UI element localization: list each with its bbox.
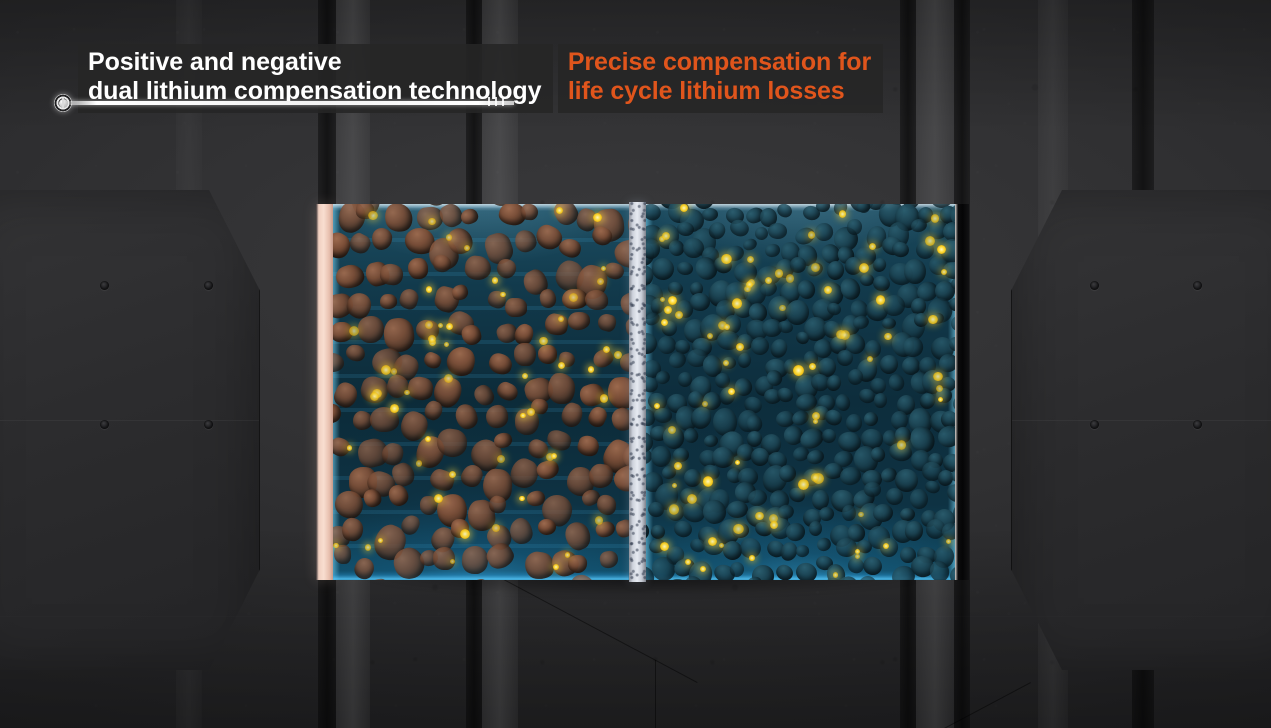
lithium-ion-glow — [569, 293, 578, 302]
lithium-ion-glow — [438, 323, 443, 328]
electrode-particle — [584, 289, 608, 310]
lithium-ion-glow — [931, 214, 940, 223]
negative-electrode — [646, 204, 955, 580]
lithium-ion-glow — [614, 351, 622, 359]
electrode-particle — [408, 258, 428, 279]
wall-rivet — [1193, 420, 1202, 429]
lithium-ion-glow — [460, 529, 470, 539]
lithium-ion-glow — [654, 403, 660, 409]
wall-rivet — [204, 420, 213, 429]
aluminium-current-collector — [316, 204, 333, 580]
lithium-ion-glow — [674, 462, 682, 470]
lithium-ion-glow — [839, 210, 846, 217]
caption-subtitle-line2: life cycle lithium losses — [568, 77, 871, 106]
wall-plate-seam-left — [0, 420, 259, 421]
lithium-ion-glow — [707, 333, 714, 340]
lithium-ion-glow — [603, 346, 610, 353]
electrode-particle — [845, 414, 862, 432]
electrode-particle — [873, 392, 887, 408]
lithium-ion-glow — [446, 234, 453, 241]
play-pause-knob-icon[interactable] — [54, 94, 72, 112]
lithium-ion-glow — [786, 274, 795, 283]
lithium-ion-glow — [936, 385, 943, 392]
electrode-particle — [513, 343, 535, 366]
lithium-ion-glow — [732, 298, 743, 309]
lithium-ion-glow — [497, 455, 505, 463]
lithium-ion-glow — [685, 559, 691, 565]
lithium-ion-glow — [735, 460, 740, 465]
lithium-ion-glow — [347, 445, 352, 450]
lithium-ion-glow — [733, 524, 744, 535]
timeline-tick — [502, 97, 504, 106]
lithium-ion-glow — [884, 333, 892, 341]
caption-subtitle-box: Precise compensation for life cycle lith… — [558, 44, 883, 113]
floor-seam-highlight — [0, 616, 1271, 617]
lithium-ion-glow — [811, 473, 819, 481]
electrode-particle — [863, 481, 881, 497]
lithium-ion-glow — [378, 538, 383, 543]
lithium-ion-glow — [500, 292, 506, 298]
lithium-ion-glow — [700, 566, 706, 572]
lithium-ion-glow — [824, 286, 832, 294]
positive-electrode — [333, 204, 629, 580]
lithium-ion-glow — [808, 231, 816, 239]
caption-title-line1: Positive and negative — [88, 48, 541, 77]
lithium-ion-glow — [349, 326, 359, 336]
lithium-ion-glow — [809, 363, 816, 370]
lithium-ion-glow — [798, 479, 809, 490]
lithium-ion-glow — [416, 460, 422, 466]
lithium-ion-glow — [883, 543, 889, 549]
lithium-ion-glow — [736, 343, 744, 351]
lithium-ion-glow — [492, 524, 499, 531]
lithium-ion-glow — [391, 368, 397, 374]
lithium-ion-glow — [668, 296, 677, 305]
lithium-ion-glow — [744, 286, 750, 292]
lithium-ion-glow — [446, 323, 453, 330]
timeline-track[interactable] — [70, 101, 514, 105]
electrode-particle — [547, 373, 575, 405]
timeline-tick — [495, 97, 497, 106]
copper-current-collector — [955, 204, 969, 580]
lithium-ion-glow — [897, 440, 907, 450]
lithium-ion-glow — [928, 315, 937, 324]
electrode-particle — [904, 259, 926, 285]
wall-plate-seam-right — [1012, 420, 1271, 421]
electrode-particle — [654, 407, 673, 423]
lithium-ion-glow — [492, 277, 498, 283]
lithium-ion-glow — [519, 496, 525, 502]
lithium-ion-glow — [933, 372, 943, 382]
lithium-ion-glow — [551, 453, 557, 459]
scene: Positive and negative dual lithium compe… — [0, 0, 1271, 728]
electrode-particle — [809, 521, 822, 536]
lithium-ion-glow — [703, 476, 713, 486]
lithium-ion-glow — [444, 342, 449, 347]
electrode-particle — [683, 469, 701, 487]
wall-rivet — [100, 281, 109, 290]
lithium-ion-glow — [672, 483, 677, 488]
wall-rivet — [1193, 281, 1202, 290]
electrode-particle — [842, 505, 856, 521]
lithium-ion-glow — [925, 236, 935, 246]
timeline-divider[interactable] — [54, 94, 514, 112]
lithium-ion-glow — [390, 404, 399, 413]
lithium-ion-glow — [811, 263, 820, 272]
wall-rivet — [204, 281, 213, 290]
lithium-ion-glow — [867, 356, 873, 362]
lithium-ion-glow — [434, 494, 443, 503]
wall-plate-right — [1011, 190, 1271, 670]
lithium-ion-glow — [755, 512, 764, 521]
wall-rivet — [1090, 281, 1099, 290]
lithium-ion-glow — [669, 504, 679, 514]
lithium-ion-glow — [662, 232, 670, 240]
timeline-tick — [488, 97, 490, 106]
caption-subtitle-line1: Precise compensation for — [568, 48, 871, 77]
lithium-ion-glow — [702, 401, 708, 407]
floor-seam-vertical — [655, 660, 656, 728]
lithium-ion-glow — [381, 365, 391, 375]
wall-plate-left — [0, 190, 260, 670]
lithium-ion-glow — [527, 408, 535, 416]
lithium-ion-glow — [333, 543, 339, 549]
electrode-particle — [538, 519, 556, 535]
lithium-ion-glow — [558, 316, 564, 322]
wall-rivet — [1090, 420, 1099, 429]
electrode-particle — [505, 298, 527, 317]
wall-rivet — [100, 420, 109, 429]
lithium-ion-glow — [721, 254, 732, 265]
battery-cell-diagram — [316, 204, 969, 580]
lithium-ion-glow — [775, 269, 784, 278]
lithium-ion-glow — [765, 277, 772, 284]
electrode-particle — [521, 204, 539, 220]
electrode-particle — [538, 345, 557, 364]
lithium-ion-glow — [793, 365, 804, 376]
lithium-ion-glow — [779, 305, 785, 311]
lithium-ion-glow — [749, 555, 755, 561]
electrode-particle — [358, 316, 384, 343]
lithium-ion-glow — [595, 516, 604, 525]
separator-membrane — [629, 202, 646, 582]
lithium-ion-glow — [597, 278, 604, 285]
